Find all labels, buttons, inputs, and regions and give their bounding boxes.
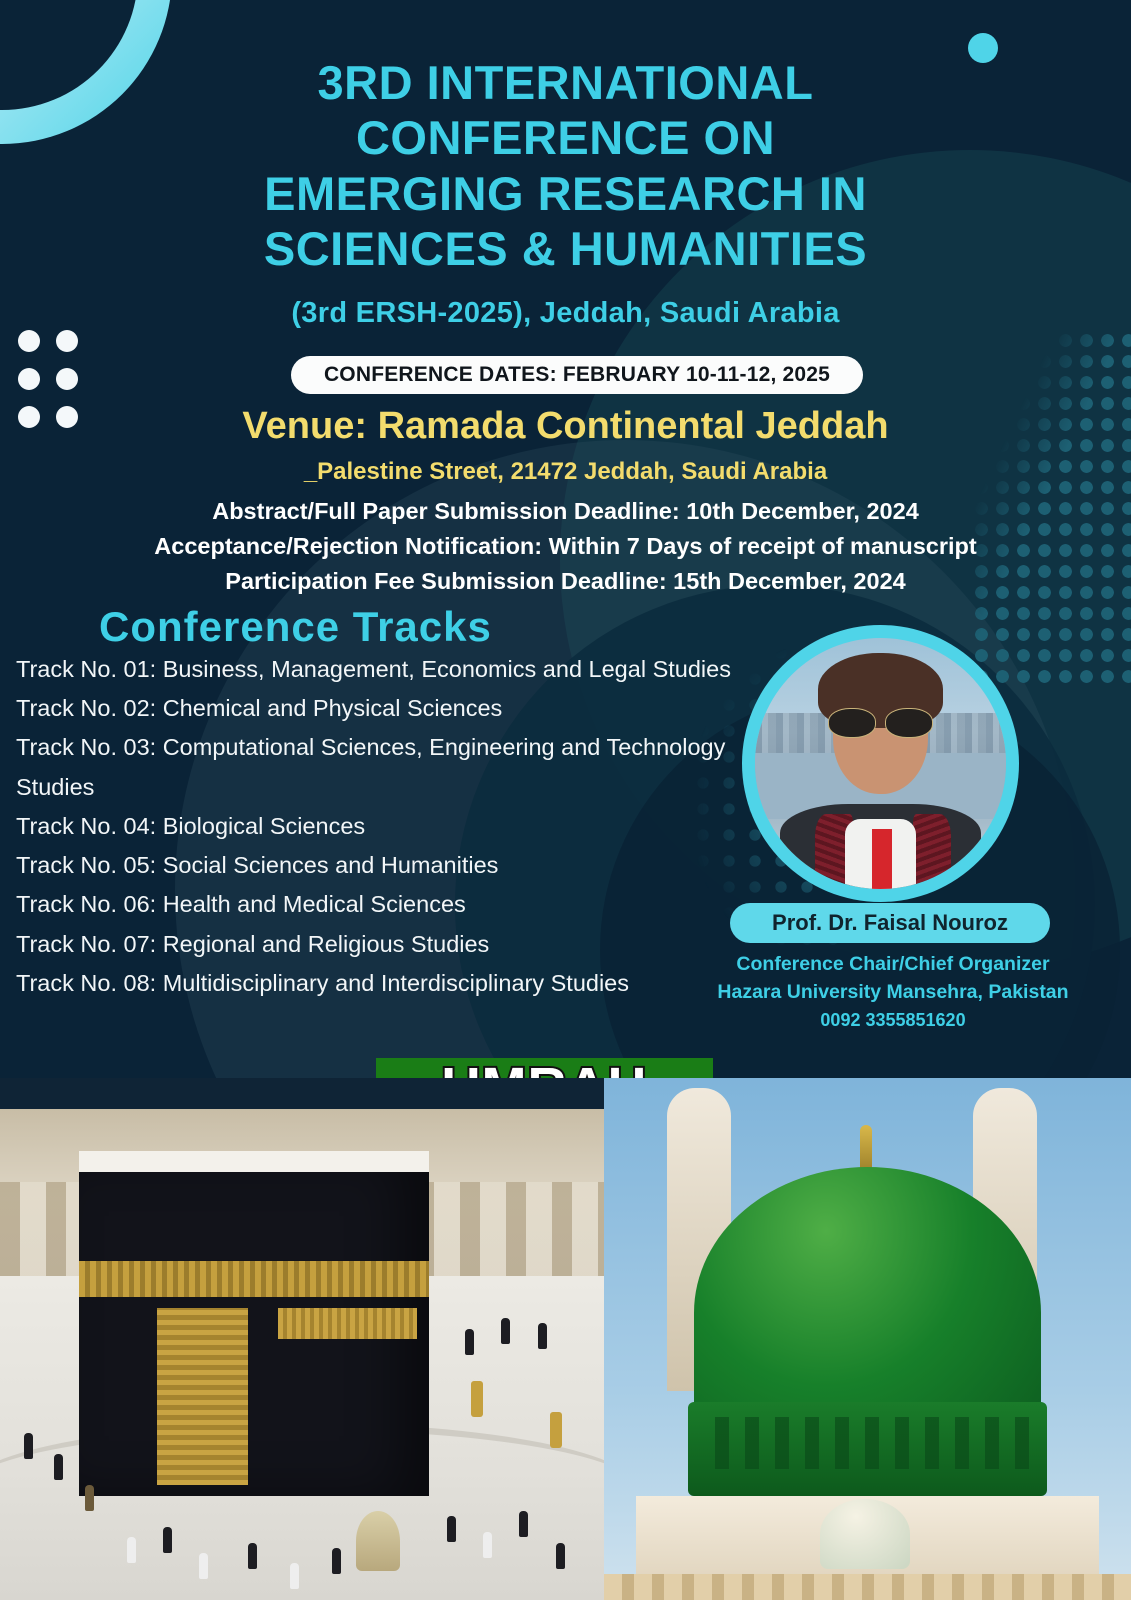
venue-name: Venue: Ramada Continental Jeddah bbox=[0, 405, 1131, 448]
sunglasses-icon bbox=[828, 708, 933, 736]
venue-address: _Palestine Street, 21472 Jeddah, Saudi A… bbox=[0, 458, 1131, 486]
conference-poster: 3RD INTERNATIONAL CONFERENCE ON EMERGING… bbox=[0, 0, 1131, 1600]
page-subtitle: (3rd ERSH-2025), Jeddah, Saudi Arabia bbox=[0, 297, 1131, 330]
tracks-heading: Conference Tracks bbox=[99, 603, 492, 651]
track-item: Track No. 05: Social Sciences and Humani… bbox=[16, 846, 761, 885]
deadline-acceptance: Acceptance/Rejection Notification: Withi… bbox=[0, 533, 1131, 560]
green-dome-photo bbox=[604, 1078, 1131, 1600]
track-item: Track No. 01: Business, Management, Econ… bbox=[16, 650, 761, 689]
track-item: Track No. 04: Biological Sciences bbox=[16, 807, 761, 846]
chair-role: Conference Chair/Chief Organizer bbox=[700, 953, 1086, 976]
deadline-fee: Participation Fee Submission Deadline: 1… bbox=[0, 568, 1131, 595]
track-item: Track No. 07: Regional and Religious Stu… bbox=[16, 925, 761, 964]
track-item: Track No. 08: Multidisciplinary and Inte… bbox=[16, 964, 761, 1003]
deadline-abstract: Abstract/Full Paper Submission Deadline:… bbox=[0, 498, 1131, 525]
chair-photo bbox=[755, 638, 1006, 889]
photo-strip bbox=[0, 1078, 1131, 1600]
title-line-3: EMERGING RESEARCH IN bbox=[110, 166, 1021, 221]
title-line-1: 3RD INTERNATIONAL bbox=[110, 55, 1021, 110]
conference-dates-badge: CONFERENCE DATES: FEBRUARY 10-11-12, 202… bbox=[291, 356, 863, 394]
track-item: Track No. 06: Health and Medical Science… bbox=[16, 885, 761, 924]
chair-name-badge: Prof. Dr. Faisal Nouroz bbox=[730, 903, 1050, 943]
avatar bbox=[742, 625, 1019, 902]
title-line-4: SCIENCES & HUMANITIES bbox=[110, 221, 1021, 276]
title-line-2: CONFERENCE ON bbox=[110, 110, 1021, 165]
kaaba-photo bbox=[0, 1078, 604, 1600]
page-title: 3RD INTERNATIONAL CONFERENCE ON EMERGING… bbox=[0, 55, 1131, 277]
tracks-list: Track No. 01: Business, Management, Econ… bbox=[16, 650, 761, 1003]
track-item: Track No. 03: Computational Sciences, En… bbox=[16, 728, 761, 806]
chair-affiliation: Hazara University Mansehra, Pakistan bbox=[700, 981, 1086, 1004]
chair-phone: 0092 3355851620 bbox=[700, 1010, 1086, 1031]
track-item: Track No. 02: Chemical and Physical Scie… bbox=[16, 689, 761, 728]
